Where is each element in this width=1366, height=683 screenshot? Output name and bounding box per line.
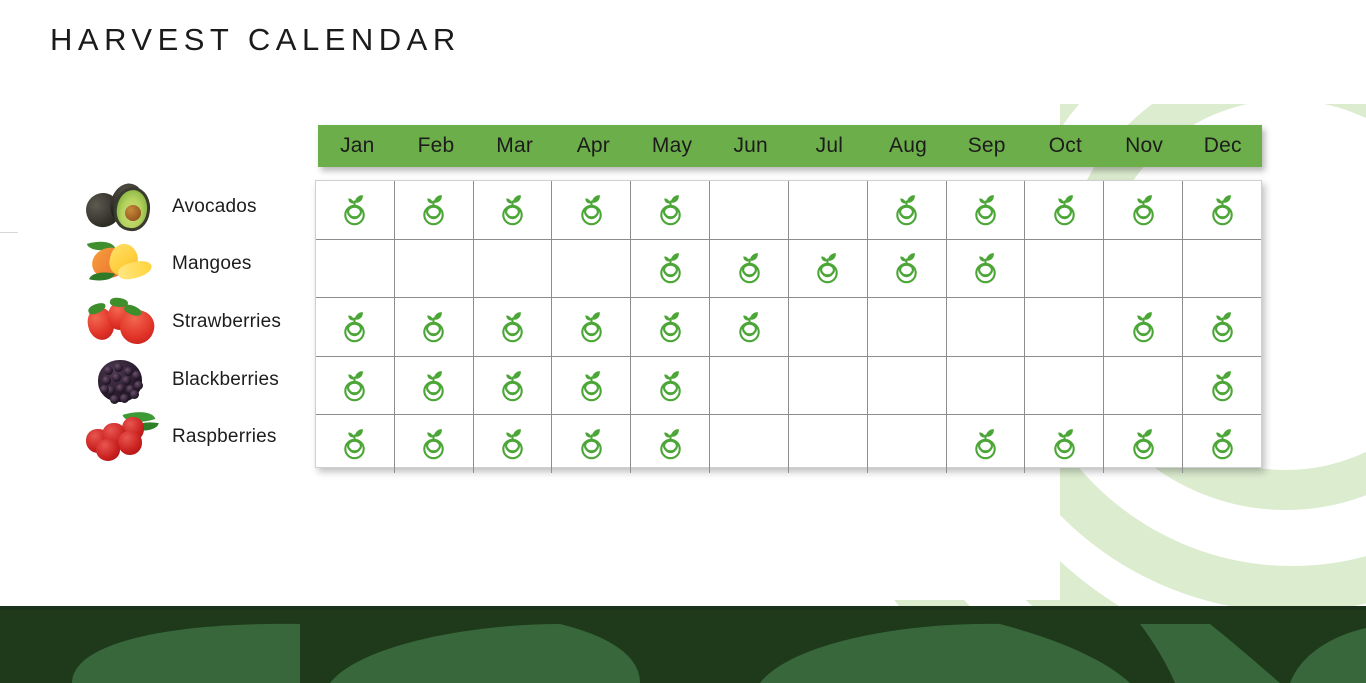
cell-avocados-jan[interactable] <box>316 181 395 239</box>
fruit-legend: AvocadosMangoesStrawberriesBlackberriesR… <box>84 178 314 466</box>
cell-mangoes-mar[interactable] <box>474 240 553 298</box>
cell-strawberries-aug[interactable] <box>868 298 947 356</box>
cell-mangoes-oct[interactable] <box>1025 240 1104 298</box>
cell-blackberries-nov[interactable] <box>1104 357 1183 415</box>
fruit-sprout-icon <box>1051 192 1078 228</box>
calendar-row-raspberries <box>316 414 1261 473</box>
cell-avocados-jun[interactable] <box>710 181 789 239</box>
cell-mangoes-nov[interactable] <box>1104 240 1183 298</box>
fruit-sprout-icon <box>972 192 999 228</box>
cell-raspberries-may[interactable] <box>631 415 710 473</box>
fruit-sprout-icon <box>1209 368 1236 404</box>
cell-avocados-feb[interactable] <box>395 181 474 239</box>
cell-avocados-oct[interactable] <box>1025 181 1104 239</box>
legend-row: Strawberries <box>84 293 314 351</box>
cell-blackberries-aug[interactable] <box>868 357 947 415</box>
cell-strawberries-jul[interactable] <box>789 298 868 356</box>
cell-strawberries-sep[interactable] <box>947 298 1026 356</box>
mango-thumbnail <box>84 238 162 290</box>
cell-mangoes-sep[interactable] <box>947 240 1026 298</box>
cell-avocados-aug[interactable] <box>868 181 947 239</box>
cell-avocados-nov[interactable] <box>1104 181 1183 239</box>
fruit-sprout-icon <box>420 426 447 462</box>
cell-strawberries-jun[interactable] <box>710 298 789 356</box>
cell-blackberries-jun[interactable] <box>710 357 789 415</box>
month-header-may[interactable]: May <box>633 125 712 167</box>
fruit-sprout-icon <box>1130 426 1157 462</box>
fruit-sprout-icon <box>1051 426 1078 462</box>
cell-raspberries-jun[interactable] <box>710 415 789 473</box>
cell-strawberries-may[interactable] <box>631 298 710 356</box>
month-header-apr[interactable]: Apr <box>554 125 633 167</box>
raspberry-thumbnail <box>84 411 162 463</box>
cell-blackberries-sep[interactable] <box>947 357 1026 415</box>
cell-strawberries-dec[interactable] <box>1183 298 1261 356</box>
fruit-sprout-icon <box>499 426 526 462</box>
cell-strawberries-oct[interactable] <box>1025 298 1104 356</box>
footer-band <box>0 610 1366 683</box>
fruit-sprout-icon <box>420 309 447 345</box>
cell-blackberries-jul[interactable] <box>789 357 868 415</box>
fruit-sprout-icon <box>1130 192 1157 228</box>
legend-row: Avocados <box>84 178 314 236</box>
cell-mangoes-jul[interactable] <box>789 240 868 298</box>
month-header-dec[interactable]: Dec <box>1183 125 1262 167</box>
cell-raspberries-dec[interactable] <box>1183 415 1261 473</box>
cell-raspberries-mar[interactable] <box>474 415 553 473</box>
background-mask-top <box>1060 0 1366 104</box>
month-header-sep[interactable]: Sep <box>947 125 1026 167</box>
strawberry-thumbnail <box>84 296 162 348</box>
cell-strawberries-nov[interactable] <box>1104 298 1183 356</box>
left-edge-hairline <box>0 232 18 233</box>
cell-avocados-sep[interactable] <box>947 181 1026 239</box>
month-header-feb[interactable]: Feb <box>397 125 476 167</box>
calendar-row-mangoes <box>316 239 1261 298</box>
cell-avocados-apr[interactable] <box>552 181 631 239</box>
fruit-sprout-icon <box>1130 309 1157 345</box>
fruit-sprout-icon <box>972 426 999 462</box>
fruit-sprout-icon <box>1209 309 1236 345</box>
fruit-sprout-icon <box>341 192 368 228</box>
fruit-sprout-icon <box>578 368 605 404</box>
calendar-grid <box>315 180 1262 468</box>
month-header-jul[interactable]: Jul <box>790 125 869 167</box>
cell-avocados-jul[interactable] <box>789 181 868 239</box>
fruit-sprout-icon <box>499 309 526 345</box>
fruit-sprout-icon <box>657 309 684 345</box>
cell-raspberries-feb[interactable] <box>395 415 474 473</box>
page-title: HARVEST CALENDAR <box>50 22 461 58</box>
fruit-sprout-icon <box>578 426 605 462</box>
calendar-row-strawberries <box>316 297 1261 356</box>
cell-mangoes-jan[interactable] <box>316 240 395 298</box>
fruit-sprout-icon <box>578 192 605 228</box>
legend-row: Blackberries <box>84 351 314 409</box>
fruit-sprout-icon <box>657 250 684 286</box>
fruit-sprout-icon <box>814 250 841 286</box>
month-header-aug[interactable]: Aug <box>869 125 948 167</box>
cell-raspberries-jan[interactable] <box>316 415 395 473</box>
legend-row-label: Avocados <box>172 196 257 218</box>
fruit-sprout-icon <box>1209 192 1236 228</box>
legend-row-label: Raspberries <box>172 426 277 448</box>
month-header-mar[interactable]: Mar <box>475 125 554 167</box>
cell-raspberries-jul[interactable] <box>789 415 868 473</box>
fruit-sprout-icon <box>578 309 605 345</box>
calendar-row-avocados <box>316 181 1261 239</box>
cell-blackberries-feb[interactable] <box>395 357 474 415</box>
calendar-row-blackberries <box>316 356 1261 415</box>
cell-raspberries-aug[interactable] <box>868 415 947 473</box>
cell-blackberries-apr[interactable] <box>552 357 631 415</box>
calendar-month-header: JanFebMarAprMayJunJulAugSepOctNovDec <box>318 125 1262 167</box>
fruit-sprout-icon <box>736 250 763 286</box>
fruit-sprout-icon <box>499 192 526 228</box>
month-header-nov[interactable]: Nov <box>1105 125 1184 167</box>
cell-strawberries-jan[interactable] <box>316 298 395 356</box>
fruit-sprout-icon <box>657 426 684 462</box>
legend-row: Mangoes <box>84 236 314 294</box>
cell-blackberries-dec[interactable] <box>1183 357 1261 415</box>
blackberry-thumbnail <box>84 354 162 406</box>
legend-row-label: Mangoes <box>172 253 252 275</box>
fruit-sprout-icon <box>341 426 368 462</box>
cell-raspberries-nov[interactable] <box>1104 415 1183 473</box>
fruit-sprout-icon <box>420 192 447 228</box>
cell-avocados-may[interactable] <box>631 181 710 239</box>
fruit-sprout-icon <box>657 192 684 228</box>
month-header-jan[interactable]: Jan <box>318 125 397 167</box>
fruit-sprout-icon <box>736 309 763 345</box>
cell-mangoes-apr[interactable] <box>552 240 631 298</box>
legend-row: Raspberries <box>84 408 314 466</box>
cell-blackberries-mar[interactable] <box>474 357 553 415</box>
cell-strawberries-feb[interactable] <box>395 298 474 356</box>
fruit-sprout-icon <box>499 368 526 404</box>
cell-mangoes-may[interactable] <box>631 240 710 298</box>
month-header-jun[interactable]: Jun <box>711 125 790 167</box>
cell-mangoes-aug[interactable] <box>868 240 947 298</box>
fruit-sprout-icon <box>657 368 684 404</box>
cell-avocados-dec[interactable] <box>1183 181 1261 239</box>
month-header-oct[interactable]: Oct <box>1026 125 1105 167</box>
cell-mangoes-feb[interactable] <box>395 240 474 298</box>
cell-blackberries-oct[interactable] <box>1025 357 1104 415</box>
fruit-sprout-icon <box>972 250 999 286</box>
cell-mangoes-jun[interactable] <box>710 240 789 298</box>
fruit-sprout-icon <box>893 250 920 286</box>
fruit-sprout-icon <box>341 368 368 404</box>
fruit-sprout-icon <box>341 309 368 345</box>
cell-mangoes-dec[interactable] <box>1183 240 1261 298</box>
avocado-thumbnail <box>84 181 162 233</box>
footer-arc-pattern <box>0 610 1366 683</box>
cell-avocados-mar[interactable] <box>474 181 553 239</box>
cell-raspberries-sep[interactable] <box>947 415 1026 473</box>
cell-strawberries-apr[interactable] <box>552 298 631 356</box>
fruit-sprout-icon <box>1209 426 1236 462</box>
cell-blackberries-may[interactable] <box>631 357 710 415</box>
fruit-sprout-icon <box>420 368 447 404</box>
cell-strawberries-mar[interactable] <box>474 298 553 356</box>
fruit-sprout-icon <box>893 192 920 228</box>
legend-row-label: Strawberries <box>172 311 281 333</box>
cell-blackberries-jan[interactable] <box>316 357 395 415</box>
legend-row-label: Blackberries <box>172 369 279 391</box>
cell-raspberries-oct[interactable] <box>1025 415 1104 473</box>
cell-raspberries-apr[interactable] <box>552 415 631 473</box>
